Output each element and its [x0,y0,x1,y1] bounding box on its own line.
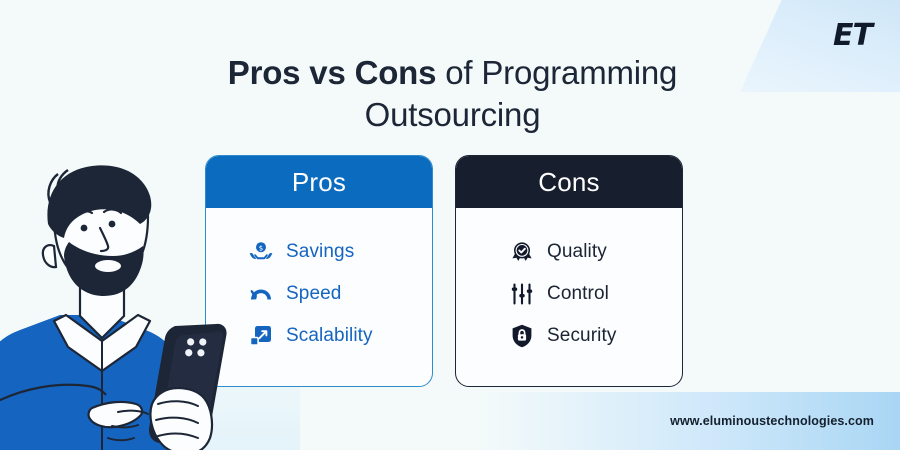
infographic-canvas: ET Pros vs Cons of Programming Outsourci… [0,0,900,450]
cons-card: Cons Quality [455,155,683,387]
award-badge-check-icon [509,239,535,265]
et-logo: ET [833,18,872,53]
man-with-smartphone-illustration [0,150,292,450]
sliders-icon [509,281,535,307]
list-item-label: Savings [286,241,354,263]
cons-card-header: Cons [456,156,682,208]
list-item-label: Scalability [286,325,373,347]
list-item-label: Security [547,325,616,347]
site-url: www.eluminoustechnologies.com [670,414,874,428]
list-item-label: Quality [547,241,607,263]
list-item-label: Control [547,283,609,305]
list-item: Control [456,273,682,315]
shield-lock-icon [509,323,535,349]
list-item: Quality [456,231,682,273]
page-title-bold: Pros vs Cons [228,54,437,91]
page-title: Pros vs Cons of Programming Outsourcing [180,52,725,136]
list-item: Security [456,315,682,357]
list-item-label: Speed [286,283,341,305]
cons-card-body: Quality Control [456,208,682,357]
top-right-gradient-decoration [740,0,900,92]
